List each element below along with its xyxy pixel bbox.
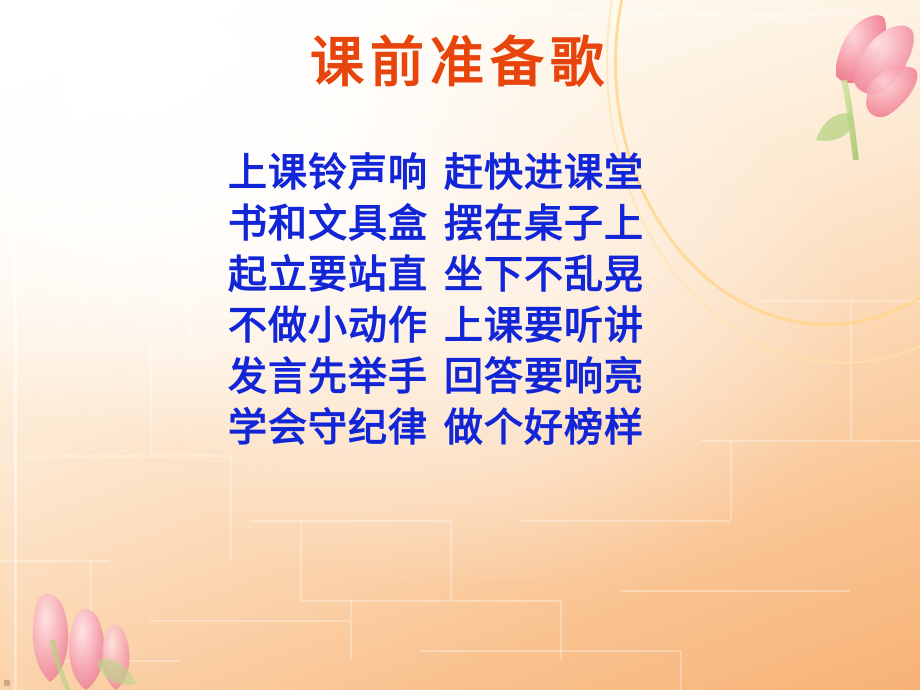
verse-left: 书和文具盒: [228, 199, 428, 250]
verse-left: 上课铃声响: [228, 148, 428, 199]
verse-left: 不做小动作: [228, 301, 428, 352]
verse-right: 做个好榜样: [444, 403, 644, 454]
slide: 课前准备歌 上课铃声响 赶快进课堂 书和文具盒 摆在桌子上 起立要站直 坐下不乱…: [0, 0, 920, 690]
verse-left: 发言先举手: [228, 352, 428, 403]
verse-line: 不做小动作 上课要听讲: [228, 301, 728, 352]
verse-line: 起立要站直 坐下不乱晃: [228, 250, 728, 301]
verse-line: 发言先举手 回答要响亮: [228, 352, 728, 403]
verse-line: 上课铃声响 赶快进课堂: [228, 148, 728, 199]
verse-right: 坐下不乱晃: [444, 250, 644, 301]
left-highlight-band: [14, 0, 17, 690]
corner-marker: [4, 680, 10, 686]
verse-right: 上课要听讲: [444, 301, 644, 352]
verse-right: 赶快进课堂: [444, 148, 644, 199]
verse-gap: [428, 199, 444, 250]
verse-gap: [428, 352, 444, 403]
page-title: 课前准备歌: [0, 30, 920, 94]
verse-gap: [428, 148, 444, 199]
tulip-bottom-left-icon: [10, 520, 200, 690]
top-highlight-band: [0, 14, 920, 17]
verse-left: 学会守纪律: [228, 403, 428, 454]
verse-right: 摆在桌子上: [444, 199, 644, 250]
verse-gap: [428, 301, 444, 352]
verse-left: 起立要站直: [228, 250, 428, 301]
verse-right: 回答要响亮: [444, 352, 644, 403]
verse-gap: [428, 250, 444, 301]
verse-gap: [428, 403, 444, 454]
verse-block: 上课铃声响 赶快进课堂 书和文具盒 摆在桌子上 起立要站直 坐下不乱晃 不做小动…: [228, 148, 728, 454]
verse-line: 书和文具盒 摆在桌子上: [228, 199, 728, 250]
verse-line: 学会守纪律 做个好榜样: [228, 403, 728, 454]
